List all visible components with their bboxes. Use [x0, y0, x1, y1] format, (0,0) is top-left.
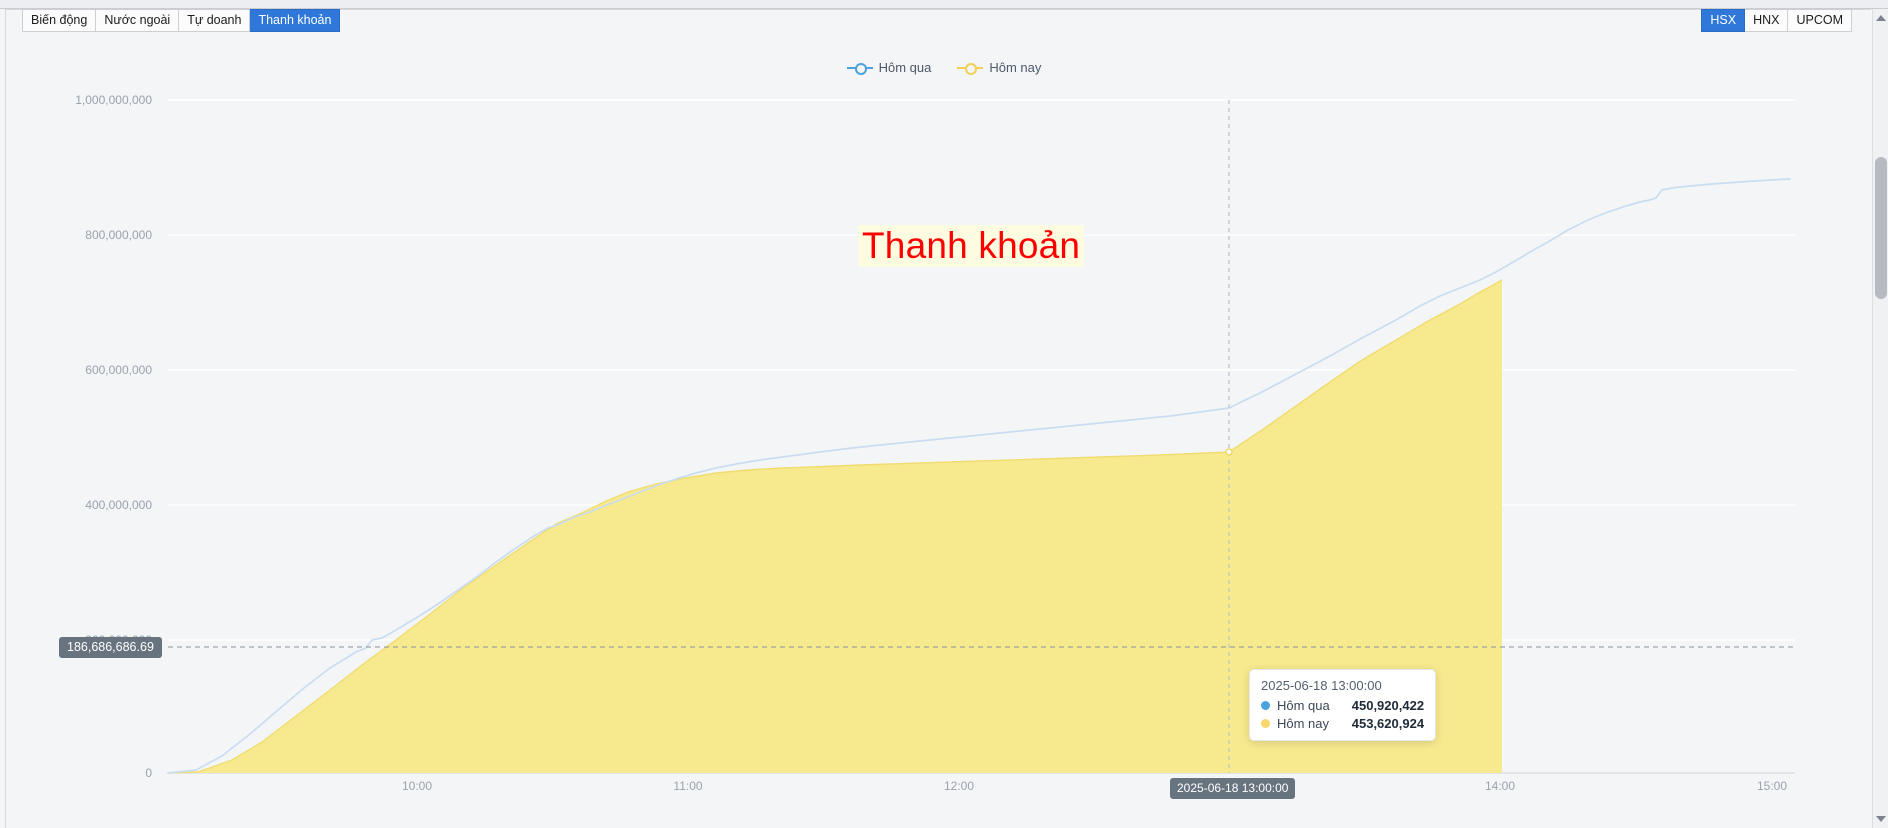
legend-item-hom-nay[interactable]: Hôm nay	[957, 60, 1041, 75]
tooltip-name-hom-nay: Hôm nay	[1277, 716, 1329, 731]
tooltip-dot-hom-qua-icon	[1261, 701, 1270, 710]
point-marker-hom-nay	[1226, 449, 1232, 455]
y-tick-1000m: 1,000,000,000	[75, 93, 152, 107]
legend-label-hom-nay: Hôm nay	[989, 60, 1041, 75]
tab-upcom[interactable]: UPCOM	[1788, 9, 1852, 32]
tab-bien-dong[interactable]: Biến động	[22, 9, 96, 32]
page-scrollbar[interactable]	[1872, 9, 1888, 828]
tab-hnx[interactable]: HNX	[1745, 9, 1788, 32]
app-window: Biến động Nước ngoài Tự doanh Thanh khoả…	[0, 0, 1888, 828]
y-tick-400m: 400,000,000	[85, 498, 152, 512]
tooltip-title: 2025-06-18 13:00:00	[1261, 678, 1424, 693]
liquidity-area-chart[interactable]: 1,000,000,000 800,000,000 600,000,000 40…	[0, 0, 1888, 828]
y-axis-labels: 1,000,000,000 800,000,000 600,000,000 40…	[75, 93, 152, 780]
category-tabbar: Biến động Nước ngoài Tự doanh Thanh khoả…	[22, 9, 340, 32]
tooltip-value-hom-nay: 453,620,924	[1330, 716, 1424, 731]
tooltip-row-hom-nay: Hôm nay 453,620,924	[1261, 716, 1424, 731]
x-tick-1400: 14:00	[1485, 779, 1515, 793]
x-axis-pointer-label: 2025-06-18 13:00:00	[1170, 778, 1295, 799]
chart-tooltip: 2025-06-18 13:00:00 Hôm qua 450,920,422 …	[1249, 669, 1436, 741]
x-tick-1500: 15:00	[1757, 779, 1787, 793]
y-tick-800m: 800,000,000	[85, 228, 152, 242]
legend-item-hom-qua[interactable]: Hôm qua	[847, 60, 932, 75]
tooltip-name-hom-qua: Hôm qua	[1277, 698, 1330, 713]
chart-annotation-label: Thanh khoản	[858, 225, 1084, 267]
x-axis-labels: 10:00 11:00 12:00 14:00 15:00	[402, 779, 1787, 793]
scroll-up-arrow-icon[interactable]	[1876, 15, 1886, 21]
x-tick-1100: 11:00	[673, 779, 702, 793]
legend-label-hom-qua: Hôm qua	[879, 60, 932, 75]
x-tick-1000: 10:00	[402, 779, 432, 793]
tab-tu-doanh[interactable]: Tự doanh	[179, 9, 250, 32]
y-tick-600m: 600,000,000	[85, 363, 152, 377]
tab-nuoc-ngoai[interactable]: Nước ngoài	[96, 9, 179, 32]
scrollbar-thumb[interactable]	[1875, 157, 1887, 299]
tooltip-value-hom-qua: 450,920,422	[1330, 698, 1424, 713]
tab-thanh-khoan[interactable]: Thanh khoản	[250, 9, 340, 32]
chart-legend: Hôm qua Hôm nay	[0, 60, 1888, 75]
y-tick-0: 0	[145, 766, 152, 780]
tab-hsx[interactable]: HSX	[1701, 9, 1745, 32]
legend-marker-hom-nay-icon	[957, 62, 983, 74]
chart-canvas[interactable]: 1,000,000,000 800,000,000 600,000,000 40…	[0, 0, 1888, 828]
scroll-down-arrow-icon[interactable]	[1876, 816, 1886, 822]
legend-marker-hom-qua-icon	[847, 62, 873, 74]
y-axis-pointer-label: 186,686,686.69	[59, 637, 162, 658]
exchange-tabbar: HSX HNX UPCOM	[1701, 9, 1852, 32]
x-tick-1200: 12:00	[944, 779, 974, 793]
tooltip-row-hom-qua: Hôm qua 450,920,422	[1261, 698, 1424, 713]
tooltip-dot-hom-nay-icon	[1261, 719, 1270, 728]
